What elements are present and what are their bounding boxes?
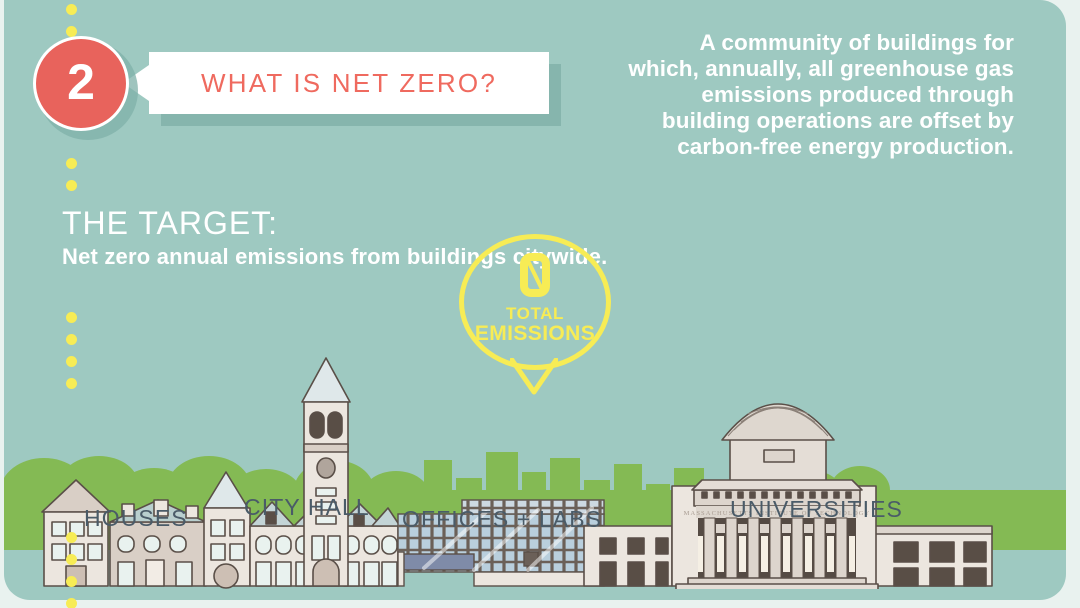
bubble-label-emissions: EMISSIONS	[475, 323, 595, 345]
infographic-canvas: MASSACHUSETTS INSTITUTE OF TECHNOLOGY	[0, 0, 1080, 608]
main-panel: MASSACHUSETTS INSTITUTE OF TECHNOLOGY	[4, 0, 1066, 600]
category-label-houses: HOUSES	[84, 505, 188, 532]
banner-body: WHAT IS NET ZERO?	[149, 52, 549, 114]
net-zero-definition-text: A community of buildings for which, annu…	[624, 30, 1014, 160]
category-label-city-hall: CITY HALL	[244, 494, 370, 521]
category-label-offices-labs: OFFICES + LABS	[402, 506, 602, 533]
badge-number-text: 2	[67, 57, 95, 107]
bubble-label-total: TOTAL	[506, 304, 564, 323]
badge-circle: 2	[33, 36, 129, 131]
bubble-pointer-icon	[510, 358, 558, 396]
section-title-banner: WHAT IS NET ZERO?	[149, 52, 549, 114]
total-emissions-bubble: TOTAL EMISSIONS	[459, 234, 611, 370]
banner-title-text: WHAT IS NET ZERO?	[201, 68, 497, 99]
slashed-zero-icon	[520, 253, 550, 297]
category-label-universities: UNIVERSITIES	[730, 496, 903, 523]
step-number-badge: 2	[33, 36, 139, 140]
